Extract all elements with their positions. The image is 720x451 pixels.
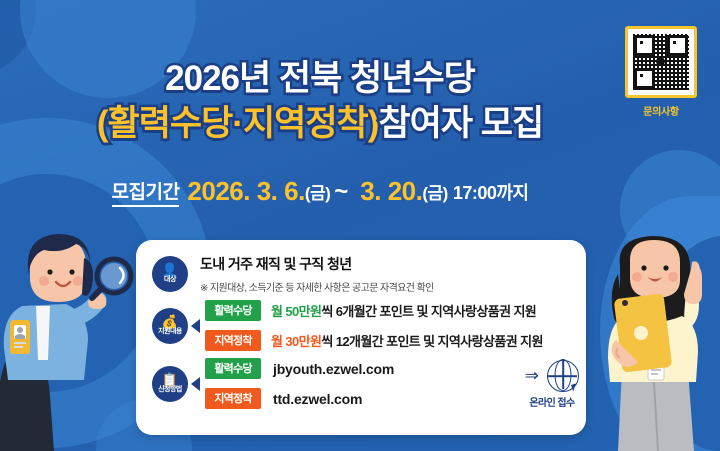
apply-url-1[interactable]: jbyouth.ezwel.com (273, 361, 394, 377)
globe-icon (547, 360, 579, 392)
arrow-left-icon-support (191, 319, 200, 333)
support-icon-label: 지원내용 (158, 328, 182, 336)
recruitment-period: 모집기간2026. 3. 6.(금)~3. 20.(금)17:00까지 (0, 176, 640, 207)
person-icon: 👤 대상 (152, 256, 188, 292)
period-end-day: (금) (422, 184, 447, 203)
apply-line-2: 지역정착 ttd.ezwel.com (205, 388, 394, 409)
illustration-person-tablet (592, 232, 720, 451)
period-label: 모집기간 (112, 177, 180, 207)
target-note: ※ 지원대상, 소득기준 등 자세한 사항은 공고문 자격요건 확인 (200, 279, 434, 294)
period-start-day: (금) (305, 184, 330, 203)
headline-line-2: (활력수당·지역정착)참여자 모집 (0, 103, 640, 144)
period-tilde: ~ (334, 178, 348, 205)
online-application-block: ⇒ 온라인 접수 (514, 360, 590, 409)
apply-line-1: 활력수당 jbyouth.ezwel.com (205, 358, 394, 379)
target-icon-label: 대상 (164, 276, 176, 284)
info-card: 👤 대상 도내 거주 재직 및 구직 청년 ※ 지원대상, 소득기준 등 자세한… (136, 240, 586, 435)
headline-line-2-rest: 참여자 모집 (378, 104, 543, 143)
info-row-support: 💰 지원내용 활력수당 월 50만원씩 6개월간 포인트 및 지역사랑상품권 지… (152, 300, 543, 351)
support-rest-2: 씩 12개월간 포인트 및 지역사랑상품권 지원 (321, 334, 542, 349)
document-icon: 📋 신청방법 (152, 366, 188, 402)
info-row-apply: 📋 신청방법 활력수당 jbyouth.ezwel.com 지역정착 ttd.e… (152, 358, 394, 409)
headline-line-2-highlight: (활력수당·지역정착) (97, 104, 379, 143)
period-until: 17:00까지 (453, 183, 529, 203)
support-amount-1: 월 50만원 (271, 304, 321, 319)
period-end-date: 3. 20. (360, 176, 422, 206)
money-glyph: 💰 (162, 316, 178, 327)
support-amount-2: 월 30만원 (271, 334, 321, 349)
support-line-2: 지역정착 월 30만원씩 12개월간 포인트 및 지역사랑상품권 지원 (205, 330, 543, 351)
info-row-target: 👤 대상 도내 거주 재직 및 구직 청년 ※ 지원대상, 소득기준 등 자세한… (152, 254, 434, 294)
headline: 2026년 전북 청년수당 (활력수당·지역정착)참여자 모집 (0, 58, 640, 145)
poster-root: 문의사항 2026년 전북 청년수당 (활력수당·지역정착)참여자 모집 모집기… (0, 0, 720, 451)
apply-url-2[interactable]: ttd.ezwel.com (273, 391, 362, 407)
badge-apply-1: 활력수당 (205, 358, 261, 379)
badge-apply-2: 지역정착 (205, 388, 261, 409)
document-glyph: 📋 (162, 374, 178, 385)
person-glyph: 👤 (162, 264, 178, 275)
support-text-1: 월 50만원씩 6개월간 포인트 및 지역사랑상품권 지원 (271, 301, 536, 320)
money-icon: 💰 지원내용 (152, 308, 188, 344)
apply-icon-label: 신청방법 (158, 386, 182, 394)
double-arrow-icon: ⇒ (525, 366, 539, 386)
illustration-person-magnifier (0, 228, 142, 451)
support-line-1: 활력수당 월 50만원씩 6개월간 포인트 및 지역사랑상품권 지원 (205, 300, 543, 321)
arrow-left-icon-apply (191, 377, 200, 391)
badge-support-1: 활력수당 (205, 300, 261, 321)
target-title: 도내 거주 재직 및 구직 청년 (200, 254, 434, 274)
period-start-date: 2026. 3. 6. (187, 176, 304, 206)
headline-line-1: 2026년 전북 청년수당 (0, 58, 640, 99)
online-application-label: 온라인 접수 (514, 394, 590, 409)
support-rest-1: 씩 6개월간 포인트 및 지역사랑상품권 지원 (321, 304, 536, 319)
support-text-2: 월 30만원씩 12개월간 포인트 및 지역사랑상품권 지원 (271, 331, 543, 350)
badge-support-2: 지역정착 (205, 330, 261, 351)
